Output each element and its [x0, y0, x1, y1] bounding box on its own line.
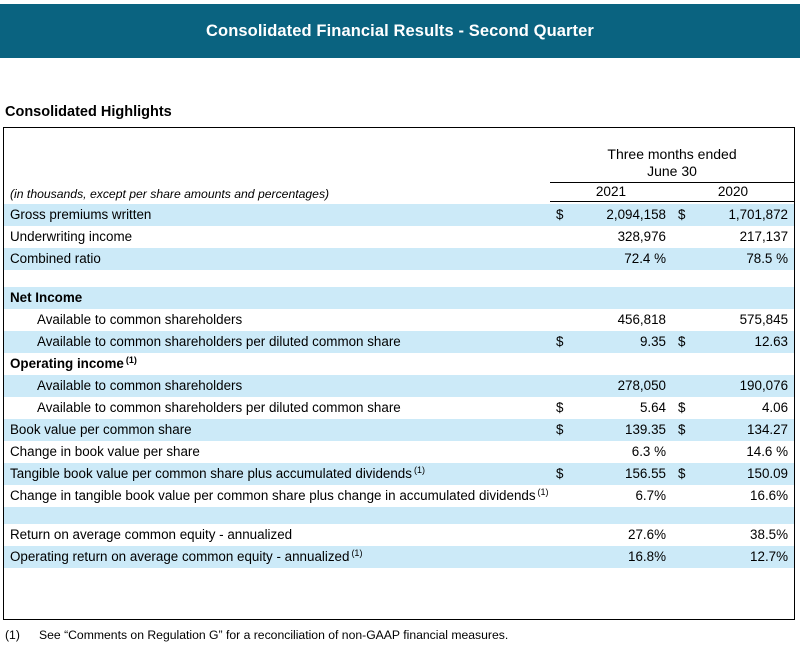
table-row: Net Income [4, 287, 794, 309]
table-row: Return on average common equity - annual… [4, 524, 794, 546]
spacer-cell [4, 270, 550, 287]
value-2020: 78.5 % [698, 248, 794, 270]
table-row: Combined ratio 72.4 % 78.5 % [4, 248, 794, 270]
value-2020: 134.27 [698, 419, 794, 441]
value-2021: 2,094,158 [576, 204, 672, 226]
row-label: Book value per common share [4, 419, 550, 441]
value-2020: 4.06 [698, 397, 794, 419]
value-2021: 5.64 [576, 397, 672, 419]
row-footnote-marker: (1) [349, 548, 362, 558]
currency-symbol-2021 [550, 546, 576, 568]
row-label-text: Gross premiums written [10, 207, 151, 222]
row-label-text: Book value per common share [10, 422, 192, 437]
page-banner: Consolidated Financial Results - Second … [0, 4, 800, 58]
period-header-line2: June 30 [647, 163, 697, 179]
currency-symbol-2020 [672, 546, 698, 568]
currency-symbol-2020 [672, 309, 698, 331]
column-header-2020: 2020 [672, 184, 794, 204]
currency-symbol-2021 [550, 485, 576, 507]
value-2020: 575,845 [698, 309, 794, 331]
table-row: Book value per common share$139.35$134.2… [4, 419, 794, 441]
value-2020: 14.6 % [698, 441, 794, 463]
table-row: Available to common shareholders per dil… [4, 331, 794, 353]
table-row: Available to common shareholders per dil… [4, 397, 794, 419]
currency-symbol-2020 [672, 375, 698, 397]
currency-symbol-2021 [550, 524, 576, 546]
row-label-text: Net Income [10, 290, 82, 305]
currency-symbol-2020: $ [672, 331, 698, 353]
currency-symbol-2021 [550, 375, 576, 397]
currency-symbol-2021 [550, 287, 576, 309]
row-label: Change in book value per share [4, 441, 550, 463]
period-header-text: Three months ended June 30 [550, 146, 794, 183]
row-label-text: Underwriting income [10, 229, 132, 244]
currency-symbol-2020 [672, 287, 698, 309]
spacer-cell [576, 270, 672, 287]
spacer-cell [4, 507, 550, 524]
column-header-2021: 2021 [550, 184, 672, 204]
row-label: Net Income [4, 287, 550, 309]
value-2021: 16.8% [576, 546, 672, 568]
table-spacer-row [4, 507, 794, 524]
value-2021: 139.35 [576, 419, 672, 441]
currency-symbol-2020 [672, 441, 698, 463]
currency-symbol-2020: $ [672, 463, 698, 485]
value-2021: 328,976 [576, 226, 672, 248]
table-header: Three months ended June 30 (in thousands… [4, 128, 794, 204]
currency-symbol-2021: $ [550, 204, 576, 226]
table-row: Change in book value per share 6.3 % 14.… [4, 441, 794, 463]
footnote: (1)See “Comments on Regulation G” for a … [5, 628, 508, 642]
row-label: Available to common shareholders per dil… [4, 397, 550, 419]
value-2021: 278,050 [576, 375, 672, 397]
row-label: Operating income(1) [4, 353, 550, 375]
table-header-span-row: Three months ended June 30 [4, 128, 794, 184]
header-spacer-cell [4, 128, 550, 184]
row-label-text: Tangible book value per common share plu… [10, 466, 412, 481]
table-row: Available to common shareholders 456,818… [4, 309, 794, 331]
value-2021 [576, 287, 672, 309]
value-2021: 72.4 % [576, 248, 672, 270]
row-label: Available to common shareholders [4, 309, 550, 331]
column-header-2020-label: 2020 [672, 184, 794, 202]
row-label: Return on average common equity - annual… [4, 524, 550, 546]
currency-symbol-2020: $ [672, 397, 698, 419]
table-spacer-row [4, 270, 794, 287]
currency-symbol-2020 [672, 485, 698, 507]
table-row: Available to common shareholders 278,050… [4, 375, 794, 397]
table-header-year-row: (in thousands, except per share amounts … [4, 184, 794, 204]
currency-symbol-2020: $ [672, 204, 698, 226]
currency-symbol-2021: $ [550, 397, 576, 419]
currency-symbol-2021: $ [550, 419, 576, 441]
row-label: Tangible book value per common share plu… [4, 463, 550, 485]
column-header-2021-label: 2021 [550, 184, 672, 202]
value-2020: 12.7% [698, 546, 794, 568]
table-row: Operating income(1) [4, 353, 794, 375]
row-footnote-marker: (1) [536, 487, 549, 497]
value-2020 [698, 353, 794, 375]
row-label: Underwriting income [4, 226, 550, 248]
currency-symbol-2020: $ [672, 419, 698, 441]
currency-symbol-2020 [672, 353, 698, 375]
table-row: Change in tangible book value per common… [4, 485, 794, 507]
currency-symbol-2021: $ [550, 331, 576, 353]
row-label-text: Change in tangible book value per common… [10, 488, 536, 503]
section-heading: Consolidated Highlights [5, 104, 172, 120]
row-label-text: Available to common shareholders [37, 378, 242, 393]
row-label-text: Available to common shareholders [37, 312, 242, 327]
table-row: Operating return on average common equit… [4, 546, 794, 568]
value-2020: 16.6% [698, 485, 794, 507]
row-label-text: Available to common shareholders per dil… [37, 334, 401, 349]
table-body: Gross premiums written$2,094,158$1,701,8… [4, 204, 794, 568]
currency-symbol-2020 [672, 248, 698, 270]
units-note: (in thousands, except per share amounts … [4, 184, 550, 204]
currency-symbol-2021 [550, 226, 576, 248]
row-label: Change in tangible book value per common… [4, 485, 550, 507]
period-header-line1: Three months ended [607, 146, 736, 162]
financial-highlights-table: Three months ended June 30 (in thousands… [3, 127, 795, 620]
currency-symbol-2020 [672, 226, 698, 248]
value-2021: 156.55 [576, 463, 672, 485]
currency-symbol-2021 [550, 441, 576, 463]
value-2020: 217,137 [698, 226, 794, 248]
row-label-text: Combined ratio [10, 251, 101, 266]
spacer-cell [672, 270, 698, 287]
spacer-cell [576, 507, 672, 524]
value-2020: 38.5% [698, 524, 794, 546]
row-label: Combined ratio [4, 248, 550, 270]
value-2020 [698, 287, 794, 309]
row-label-text: Operating return on average common equit… [10, 549, 349, 564]
table-row: Tangible book value per common share plu… [4, 463, 794, 485]
currency-symbol-2021 [550, 248, 576, 270]
highlights-table: Three months ended June 30 (in thousands… [4, 128, 794, 568]
value-2020: 1,701,872 [698, 204, 794, 226]
currency-symbol-2021 [550, 309, 576, 331]
table-row: Underwriting income 328,976 217,137 [4, 226, 794, 248]
value-2021: 456,818 [576, 309, 672, 331]
row-label-text: Return on average common equity - annual… [10, 527, 292, 542]
currency-symbol-2020 [672, 524, 698, 546]
spacer-cell [550, 507, 576, 524]
spacer-cell [550, 270, 576, 287]
value-2020: 190,076 [698, 375, 794, 397]
row-label-text: Operating income [10, 356, 124, 371]
value-2021: 9.35 [576, 331, 672, 353]
row-footnote-marker: (1) [124, 355, 137, 365]
row-label-text: Change in book value per share [10, 444, 200, 459]
table-row: Gross premiums written$2,094,158$1,701,8… [4, 204, 794, 226]
value-2021: 27.6% [576, 524, 672, 546]
value-2021: 6.3 % [576, 441, 672, 463]
row-label: Operating return on average common equit… [4, 546, 550, 568]
value-2021: 6.7% [576, 485, 672, 507]
footnote-marker: (1) [5, 628, 39, 642]
value-2021 [576, 353, 672, 375]
row-label-text: Available to common shareholders per dil… [37, 400, 401, 415]
value-2020: 12.63 [698, 331, 794, 353]
spacer-cell [698, 507, 794, 524]
footnote-text: See “Comments on Regulation G” for a rec… [39, 628, 508, 642]
spacer-cell [698, 270, 794, 287]
spacer-cell [672, 507, 698, 524]
row-footnote-marker: (1) [412, 465, 425, 475]
period-header-cell: Three months ended June 30 [550, 128, 794, 184]
value-2020: 150.09 [698, 463, 794, 485]
row-label: Available to common shareholders per dil… [4, 331, 550, 353]
currency-symbol-2021 [550, 353, 576, 375]
row-label: Available to common shareholders [4, 375, 550, 397]
currency-symbol-2021: $ [550, 463, 576, 485]
row-label: Gross premiums written [4, 204, 550, 226]
page-title: Consolidated Financial Results - Second … [206, 22, 594, 41]
